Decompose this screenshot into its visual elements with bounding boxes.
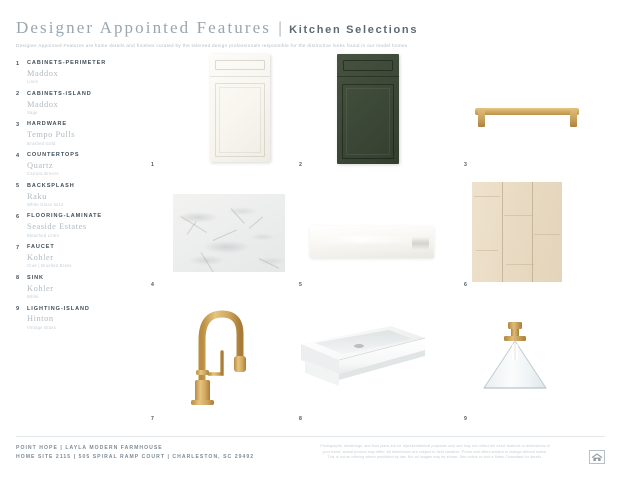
image-number: 8 — [299, 416, 302, 422]
title-main: Designer Appointed Features — [16, 18, 271, 38]
legend-number: 7 — [16, 244, 27, 269]
laminate-flooring-image — [472, 182, 562, 282]
legend-product-spec: Vintage Brass — [27, 325, 136, 330]
legend-number: 3 — [16, 121, 27, 146]
grid-cell-5: 5 — [285, 176, 440, 296]
footer-divider — [16, 436, 605, 437]
image-number: 1 — [151, 162, 154, 168]
legend-category: LIGHTING-ISLAND — [27, 306, 136, 313]
legend-product-spec: Bleached Linen — [27, 233, 136, 238]
image-number: 5 — [299, 282, 302, 288]
community-name: POINT HOPE | LAYLA MODERN FARMHOUSE — [16, 444, 254, 453]
legend-product-name: Quartz — [27, 160, 136, 172]
grid-cell-7: 7 — [150, 296, 285, 432]
legend-product-name: Seaside Estates — [27, 221, 136, 233]
legend-product-spec: Crue | Brushed Brass — [27, 263, 136, 268]
legend-product-spec: Linen — [27, 79, 136, 84]
legend-product-spec: Carrara Breeze — [27, 171, 136, 176]
disclaimer-block: Photographs, renderings, and floor plans… — [291, 444, 579, 461]
board-header: Designer Appointed Features | Kitchen Se… — [16, 18, 605, 48]
legend-product-name: Raku — [27, 191, 136, 203]
legend-number: 5 — [16, 183, 27, 208]
page-title: Designer Appointed Features | Kitchen Se… — [16, 18, 605, 38]
legend-number: 1 — [16, 60, 27, 85]
image-number: 2 — [299, 162, 302, 168]
community-address: HOME SITE 2115 | 505 SPIRAL RAMP COURT |… — [16, 453, 254, 462]
community-info: POINT HOPE | LAYLA MODERN FARMHOUSE HOME… — [16, 444, 254, 463]
header-description: Designer Appointed Features are home det… — [16, 43, 605, 48]
selections-board: Designer Appointed Features | Kitchen Se… — [0, 0, 621, 480]
grid-cell-9: 9 — [440, 296, 610, 432]
image-number: 9 — [464, 416, 467, 422]
selections-legend: 1 CABINETS-PERIMETER Maddox Linen 2 CABI… — [16, 60, 136, 336]
legend-number: 9 — [16, 306, 27, 331]
legend-product-name: Kohler — [27, 283, 136, 295]
legend-number: 2 — [16, 91, 27, 116]
list-item: 5 BACKSPLASH Raku White Gloss 3x12 — [16, 183, 136, 208]
list-item: 9 LIGHTING-ISLAND Hinton Vintage Brass — [16, 306, 136, 331]
legend-product-name: Maddox — [27, 68, 136, 80]
title-subtitle: Kitchen Selections — [289, 24, 418, 36]
list-item: 4 COUNTERTOPS Quartz Carrara Breeze — [16, 152, 136, 177]
legend-number: 4 — [16, 152, 27, 177]
legend-number: 8 — [16, 275, 27, 300]
faucet-image — [178, 300, 256, 408]
list-item: 8 SINK Kohler White — [16, 275, 136, 300]
cabinet-door-linen-image — [210, 54, 270, 162]
legend-product-name: Kohler — [27, 252, 136, 264]
legend-product-spec: Sage — [27, 110, 136, 115]
grid-cell-2: 2 — [285, 52, 440, 176]
pendant-light-image — [478, 308, 552, 400]
image-number: 7 — [151, 416, 154, 422]
image-number: 3 — [464, 162, 467, 168]
product-image-grid: 1 2 3 — [150, 52, 610, 432]
legend-product-spec: White — [27, 294, 136, 299]
subway-tile-image — [310, 226, 434, 258]
list-item: 2 CABINETS-ISLAND Maddox Sage — [16, 91, 136, 116]
legend-category: BACKSPLASH — [27, 183, 136, 190]
legend-category: HARDWARE — [27, 121, 136, 128]
brushed-gold-pull-image — [472, 94, 582, 128]
grid-cell-4: 4 — [150, 176, 285, 296]
grid-cell-1: 1 — [150, 52, 285, 176]
image-number: 6 — [464, 282, 467, 288]
legend-category: FAUCET — [27, 244, 136, 251]
grid-cell-8: 8 — [285, 296, 440, 432]
cabinet-door-sage-image — [337, 54, 399, 164]
image-number: 4 — [151, 282, 154, 288]
legend-product-spec: Brushed Gold — [27, 141, 136, 146]
list-item: 3 HARDWARE Tempo Pulls Brushed Gold — [16, 121, 136, 146]
legend-category: SINK — [27, 275, 136, 282]
grid-cell-6: 6 — [440, 176, 610, 296]
farmhouse-sink-image — [295, 316, 427, 392]
list-item: 7 FAUCET Kohler Crue | Brushed Brass — [16, 244, 136, 269]
equal-housing-opportunity-icon — [589, 450, 605, 469]
list-item: 1 CABINETS-PERIMETER Maddox Linen — [16, 60, 136, 85]
legend-category: FLOORING-LAMINATE — [27, 213, 136, 220]
quartz-sample-image — [173, 194, 285, 272]
legend-category: COUNTERTOPS — [27, 152, 136, 159]
legend-number: 6 — [16, 213, 27, 238]
legend-product-name: Hinton — [27, 313, 136, 325]
legend-category: CABINETS-PERIMETER — [27, 60, 136, 67]
legend-product-name: Tempo Pulls — [27, 129, 136, 141]
legend-product-name: Maddox — [27, 99, 136, 111]
grid-cell-3: 3 — [440, 52, 610, 176]
title-divider: | — [278, 20, 282, 38]
legend-category: CABINETS-ISLAND — [27, 91, 136, 98]
disclaimer-line-3: This is not an offering where prohibited… — [291, 455, 579, 461]
disclaimer-line-1: Photographs, renderings, and floor plans… — [291, 444, 579, 450]
list-item: 6 FLOORING-LAMINATE Seaside Estates Blea… — [16, 213, 136, 238]
legend-product-spec: White Gloss 3x12 — [27, 202, 136, 207]
